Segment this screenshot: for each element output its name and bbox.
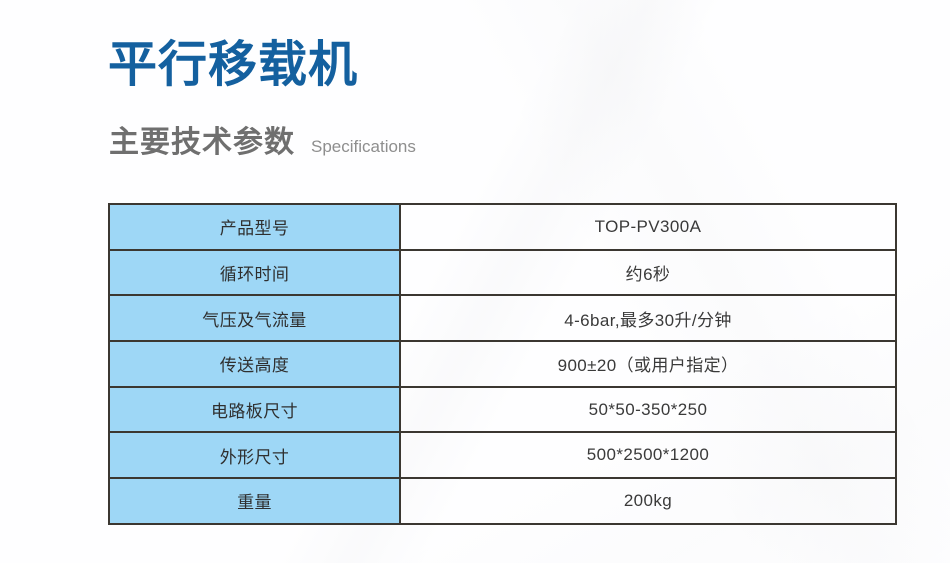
table-row: 重量200kg (109, 478, 896, 524)
spec-label-cell: 传送高度 (109, 341, 400, 387)
section-heading: 主要技术参数 Specifications (109, 125, 416, 161)
table-row: 传送高度900±20（或用户指定） (109, 341, 896, 387)
spec-label-cell: 产品型号 (109, 204, 400, 250)
spec-label-cell: 外形尺寸 (109, 432, 400, 478)
section-title-cn: 主要技术参数 (109, 125, 295, 161)
table-row: 气压及气流量4-6bar,最多30升/分钟 (109, 295, 896, 341)
spec-value-cell: 200kg (400, 478, 896, 524)
spec-value-cell: TOP-PV300A (400, 204, 896, 250)
table-row: 外形尺寸500*2500*1200 (109, 432, 896, 478)
spec-value-cell: 900±20（或用户指定） (400, 341, 896, 387)
spec-value-cell: 500*2500*1200 (400, 432, 896, 478)
table-row: 循环时间约6秒 (109, 250, 896, 296)
specifications-table: 产品型号TOP-PV300A循环时间约6秒气压及气流量4-6bar,最多30升/… (108, 203, 897, 525)
spec-label-cell: 电路板尺寸 (109, 387, 400, 433)
product-spec-page: 平行移载机 主要技术参数 Specifications 产品型号TOP-PV30… (0, 0, 950, 563)
table-row: 电路板尺寸50*50-350*250 (109, 387, 896, 433)
page-title: 平行移载机 (108, 34, 358, 96)
specifications-table-body: 产品型号TOP-PV300A循环时间约6秒气压及气流量4-6bar,最多30升/… (109, 204, 896, 524)
spec-label-cell: 重量 (109, 478, 400, 524)
spec-label-cell: 气压及气流量 (109, 295, 400, 341)
section-title-en: Specifications (311, 137, 416, 157)
spec-value-cell: 50*50-350*250 (400, 387, 896, 433)
spec-label-cell: 循环时间 (109, 250, 400, 296)
spec-value-cell: 4-6bar,最多30升/分钟 (400, 295, 896, 341)
table-row: 产品型号TOP-PV300A (109, 204, 896, 250)
spec-value-cell: 约6秒 (400, 250, 896, 296)
